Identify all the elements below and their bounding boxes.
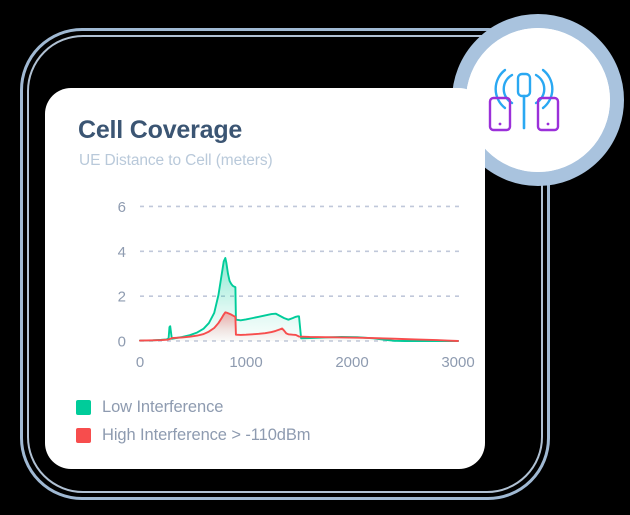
card-subtitle: UE Distance to Cell (meters)	[79, 152, 273, 170]
page-title: Cell Coverage	[78, 116, 242, 145]
legend-label-high: High Interference > -110dBm	[102, 426, 310, 445]
legend-swatch-high-icon	[76, 428, 91, 443]
chart-legend: Low Interference High Interference > -11…	[76, 393, 456, 449]
svg-text:4: 4	[118, 244, 126, 261]
svg-text:0: 0	[136, 354, 144, 371]
legend-low-interference: Low Interference	[76, 393, 456, 421]
chart-svg: 02460100020003000	[45, 183, 485, 383]
svg-text:1000: 1000	[229, 354, 262, 371]
svg-text:2: 2	[118, 289, 126, 306]
svg-text:2000: 2000	[335, 354, 368, 371]
legend-high-interference: High Interference > -110dBm	[76, 421, 456, 449]
legend-label-low: Low Interference	[102, 398, 223, 417]
cell-coverage-card: Cell Coverage UE Distance to Cell (meter…	[45, 88, 485, 469]
screenshot-root: Cell Coverage UE Distance to Cell (meter…	[0, 0, 630, 515]
svg-text:0: 0	[118, 334, 126, 351]
svg-text:6: 6	[118, 199, 126, 216]
cell-tower-antenna-icon	[484, 62, 564, 142]
svg-text:3000: 3000	[441, 354, 474, 371]
coverage-area-chart: 02460100020003000	[45, 183, 485, 383]
legend-swatch-low-icon	[76, 400, 91, 415]
